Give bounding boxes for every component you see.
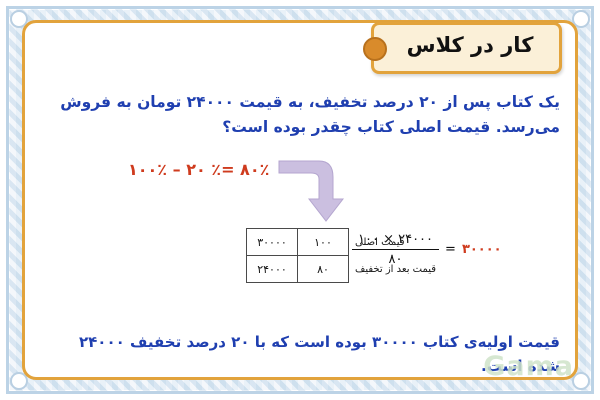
table-cell: ۳۰۰۰۰ xyxy=(247,229,298,256)
table-cell: ۱۰۰ xyxy=(298,229,349,256)
fraction-result: ۳۰۰۰۰ xyxy=(462,242,502,257)
table-cell: ۲۴۰۰۰ xyxy=(247,256,298,283)
fraction-denominator: ۸۰ xyxy=(352,250,439,267)
question-text: یک کتاب پس از ۲۰ درصد تخفیف، به قیمت ۲۴۰… xyxy=(55,90,560,140)
table-cell: ۸۰ xyxy=(298,256,349,283)
percent-formula: ۱۰۰٪ – ۲۰ ٪= ۸۰٪ xyxy=(128,160,269,179)
fraction-numerator: ۱۰۰ × ۲۴۰۰۰ xyxy=(352,232,439,250)
curved-down-arrow-icon xyxy=(275,155,345,230)
worksheet-page: کار در کلاس یک کتاب پس از ۲۰ درصد تخفیف،… xyxy=(0,0,600,400)
watermark-logo: Gama xyxy=(483,351,574,382)
equals-sign: = xyxy=(445,242,456,257)
fraction-calculation: ۱۰۰ × ۲۴۰۰۰ ۸۰ = ۳۰۰۰۰ xyxy=(352,232,502,267)
page-title: کار در کلاس xyxy=(380,24,560,66)
